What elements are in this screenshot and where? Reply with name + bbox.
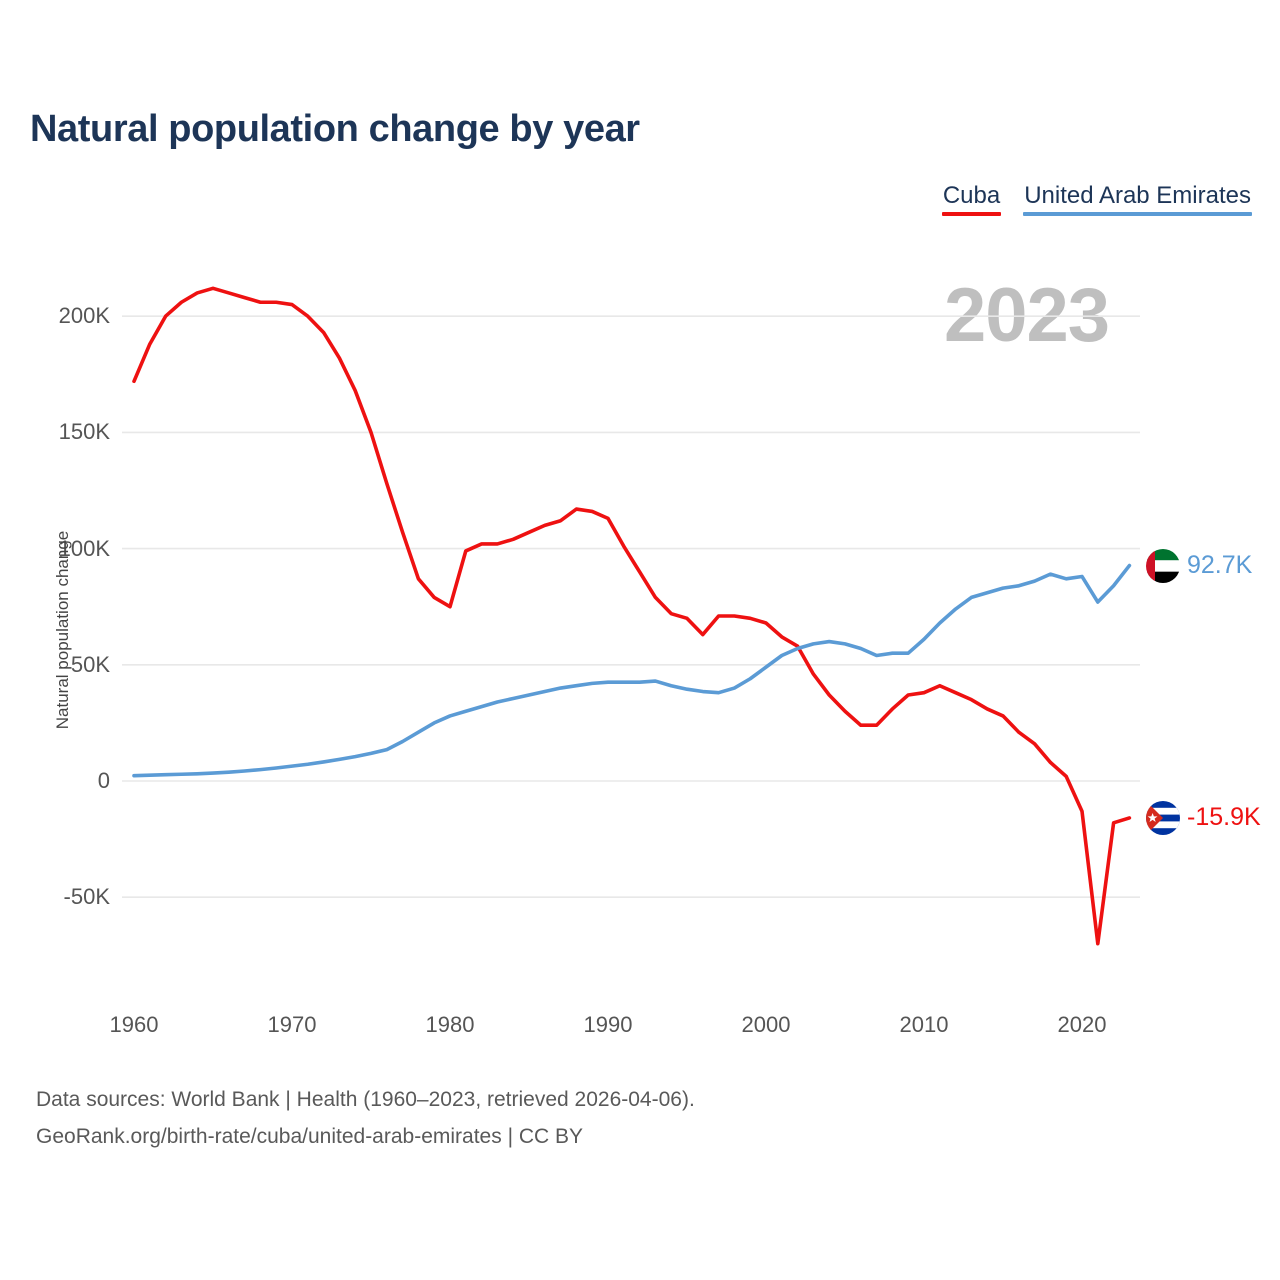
end-label-uae: 92.7K xyxy=(1146,549,1252,583)
y-axis-tick-label: 150K xyxy=(0,419,110,445)
footer-line-attribution: GeoRank.org/birth-rate/cuba/united-arab-… xyxy=(36,1119,695,1156)
x-axis-tick-label: 1970 xyxy=(268,1012,317,1038)
united-arab-emirates-flag xyxy=(1146,549,1180,583)
y-axis-tick-label: -50K xyxy=(0,884,110,910)
y-axis-tick-label: 200K xyxy=(0,303,110,329)
end-value-cuba: -15.9K xyxy=(1187,803,1261,832)
footer-line-sources: Data sources: World Bank | Health (1960–… xyxy=(36,1082,695,1119)
y-axis-tick-label: 0 xyxy=(0,768,110,794)
x-axis-tick-label: 2020 xyxy=(1058,1012,1107,1038)
end-value-uae: 92.7K xyxy=(1187,551,1252,580)
x-axis-tick-label: 1980 xyxy=(426,1012,475,1038)
series-line-united-arab-emirates xyxy=(134,566,1129,776)
gridlines xyxy=(122,316,1140,897)
cuba-flag xyxy=(1146,801,1180,835)
end-label-cuba: -15.9K xyxy=(1146,801,1261,835)
x-axis-tick-label: 2000 xyxy=(742,1012,791,1038)
series-line-cuba xyxy=(134,288,1129,943)
series-lines xyxy=(134,288,1129,943)
x-axis-tick-label: 1990 xyxy=(584,1012,633,1038)
chart-page: Natural population change by year Cuba U… xyxy=(0,0,1280,1280)
x-axis-tick-label: 2010 xyxy=(900,1012,949,1038)
x-axis-tick-label: 1960 xyxy=(110,1012,159,1038)
footer: Data sources: World Bank | Health (1960–… xyxy=(36,1082,695,1156)
y-axis-title: Natural population change xyxy=(53,531,73,729)
